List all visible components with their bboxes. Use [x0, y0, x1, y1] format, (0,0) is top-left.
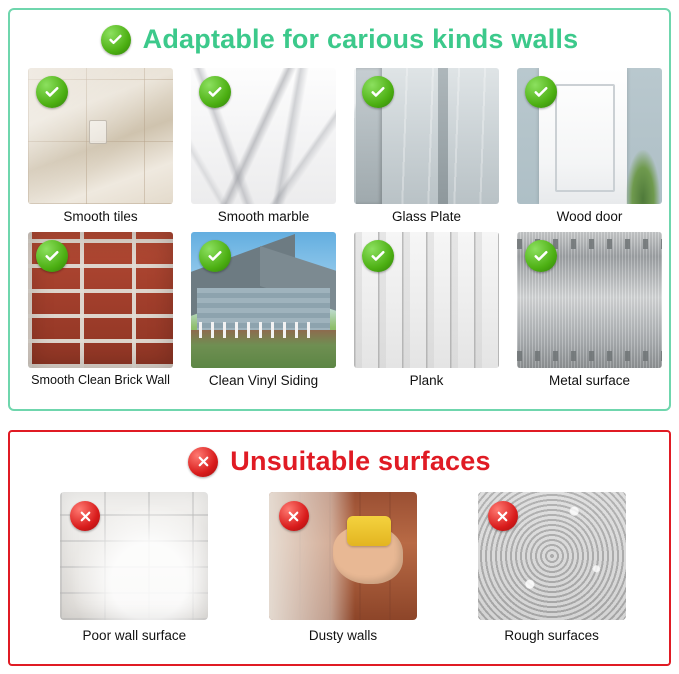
surface-caption: Smooth marble	[191, 209, 336, 224]
surface-caption: Glass Plate	[354, 209, 499, 224]
fence-shape	[199, 322, 319, 338]
surface-caption: Smooth Clean Brick Wall	[28, 373, 173, 387]
check-circle-icon	[199, 76, 231, 108]
surface-image-rough	[478, 492, 626, 620]
check-circle-icon	[362, 240, 394, 272]
surface-card: Glass Plate	[354, 68, 499, 224]
surface-image-dusty-wall	[269, 492, 417, 620]
surface-image-smooth-marble	[191, 68, 336, 204]
check-circle-icon	[525, 76, 557, 108]
suitable-title: Adaptable for carious kinds walls	[143, 24, 579, 55]
surface-image-brick-wall	[28, 232, 173, 368]
check-circle-icon	[525, 240, 557, 272]
surface-image-plank	[354, 232, 499, 368]
surface-card: Rough surfaces	[467, 492, 636, 643]
plant-decoration	[626, 150, 660, 204]
surface-card: Smooth marble	[191, 68, 336, 224]
unsuitable-grid: Poor wall surface Dusty walls	[50, 492, 636, 643]
unsuitable-surfaces-panel: Unsuitable surfaces Poor wall surface	[8, 430, 671, 666]
suitable-grid: Smooth tiles Smooth marble Glass P	[28, 68, 656, 388]
surface-caption: Metal surface	[517, 373, 662, 388]
check-circle-icon	[36, 76, 68, 108]
unsuitable-title: Unsuitable surfaces	[230, 446, 490, 477]
cross-circle-icon	[188, 447, 218, 477]
surface-image-smooth-tiles	[28, 68, 173, 204]
rivet-row-bottom	[517, 351, 662, 361]
surface-card: Wood door	[517, 68, 662, 224]
surface-caption: Dusty walls	[259, 628, 428, 643]
unsuitable-header: Unsuitable surfaces	[10, 446, 669, 477]
check-circle-icon	[101, 25, 131, 55]
surface-image-vinyl-siding	[191, 232, 336, 368]
surface-caption: Clean Vinyl Siding	[191, 373, 336, 388]
surface-caption: Wood door	[517, 209, 662, 224]
surface-card: Metal surface	[517, 232, 662, 388]
surface-caption: Rough surfaces	[467, 628, 636, 643]
check-circle-icon	[199, 240, 231, 272]
suitable-header: Adaptable for carious kinds walls	[10, 24, 669, 55]
surface-card: Plank	[354, 232, 499, 388]
surface-caption: Smooth tiles	[28, 209, 173, 224]
cross-circle-icon	[488, 501, 518, 531]
check-circle-icon	[362, 76, 394, 108]
surface-image-wood-door	[517, 68, 662, 204]
surface-card: Poor wall surface	[50, 492, 219, 643]
surface-image-glass-plate	[354, 68, 499, 204]
surface-card: Smooth tiles	[28, 68, 173, 224]
surface-image-metal	[517, 232, 662, 368]
check-circle-icon	[36, 240, 68, 272]
cross-circle-icon	[70, 501, 100, 531]
surface-card: Smooth Clean Brick Wall	[28, 232, 173, 388]
sponge-illustration	[347, 516, 391, 546]
surface-card: Clean Vinyl Siding	[191, 232, 336, 388]
suitable-surfaces-panel: Adaptable for carious kinds walls Smooth…	[8, 8, 671, 411]
surface-caption: Poor wall surface	[50, 628, 219, 643]
surface-image-poor-wall	[60, 492, 208, 620]
cross-circle-icon	[279, 501, 309, 531]
surface-card: Dusty walls	[259, 492, 428, 643]
infographic-page: Adaptable for carious kinds walls Smooth…	[0, 0, 679, 674]
surface-caption: Plank	[354, 373, 499, 388]
